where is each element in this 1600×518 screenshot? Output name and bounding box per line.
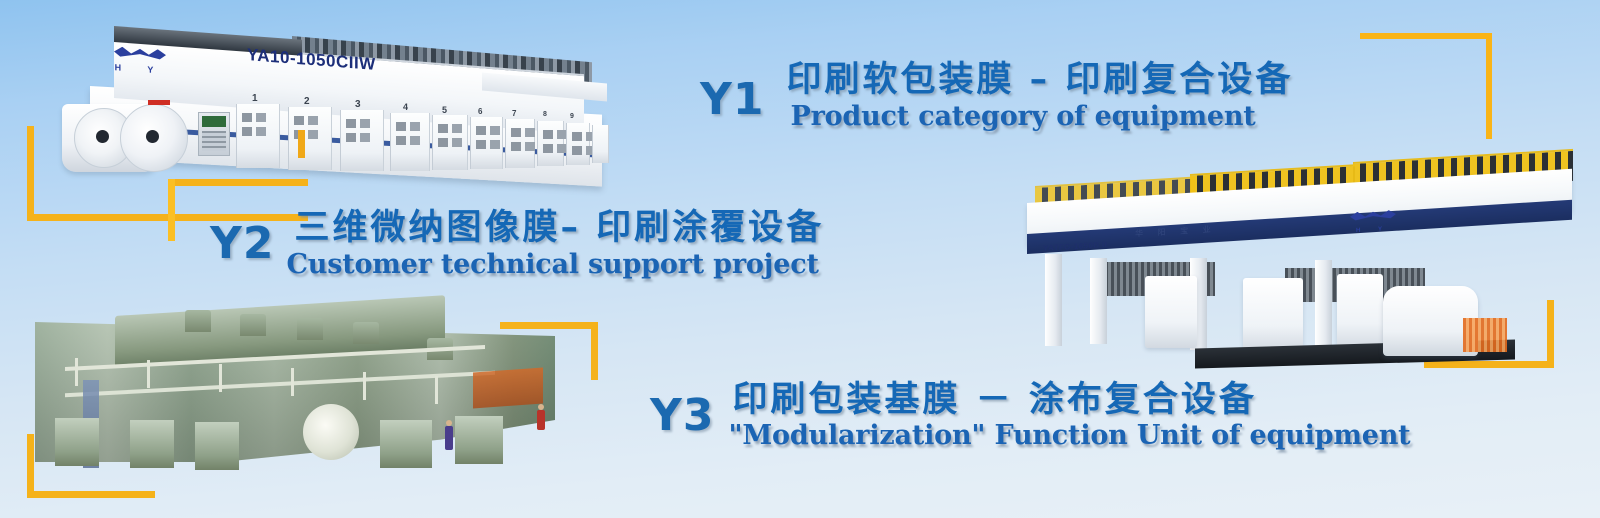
print-unit-number: 1 — [252, 93, 258, 104]
text-block-y2: Y2 三维微纳图像膜– 印刷涂覆设备 Customer technical su… — [210, 210, 824, 279]
hy-brand-logo: H Y — [1350, 210, 1396, 233]
process-station — [195, 422, 239, 470]
press-yellow-marker — [298, 130, 305, 158]
blower-unit — [185, 310, 211, 332]
hose-coil — [1463, 318, 1507, 352]
print-unit-number: 2 — [304, 96, 310, 107]
print-unit — [537, 121, 564, 166]
print-unit — [566, 123, 590, 165]
rail-post — [147, 360, 150, 388]
text-block-y1: Y1 印刷软包装膜 – 印刷复合设备 Product category of e… — [700, 62, 1293, 131]
process-station — [455, 416, 503, 464]
rail-post — [363, 372, 366, 400]
logo-wing-icon — [1350, 210, 1396, 224]
line-end-section — [473, 368, 543, 409]
process-module — [1243, 278, 1303, 352]
press-control-panel — [198, 112, 230, 156]
item-title-zh-y3: 印刷包装基膜 － 涂布复合设备 — [732, 382, 1410, 420]
print-unit-number: 5 — [442, 105, 447, 115]
item-code-y1: Y1 — [700, 78, 764, 122]
blower-unit — [297, 318, 323, 340]
machine-leg — [1090, 258, 1107, 344]
process-station — [380, 420, 432, 468]
press-red-marker — [148, 100, 170, 105]
print-unit — [592, 125, 609, 163]
machine-leg — [1045, 254, 1062, 346]
item-title-zh-y2: 三维微纳图像膜– 印刷涂覆设备 — [294, 210, 824, 248]
print-unit — [432, 115, 468, 170]
rail-post — [75, 358, 78, 386]
rail-post — [291, 368, 294, 396]
item-title-zh-y1: 印刷软包装膜 – 印刷复合设备 — [786, 62, 1293, 100]
machine-photo-paper-coating-line — [35, 308, 570, 483]
print-unit — [236, 104, 280, 168]
print-unit-number: 6 — [478, 107, 482, 116]
print-unit — [470, 117, 503, 169]
print-unit — [390, 113, 430, 171]
rail-post — [435, 376, 438, 404]
bracket-middle-left-horizontal — [168, 179, 308, 186]
machine-leg — [1315, 260, 1332, 352]
print-unit-number: 9 — [570, 113, 574, 120]
logo-wing-icon — [114, 46, 166, 64]
process-module — [1337, 274, 1383, 350]
bracket-top-right — [1360, 33, 1492, 139]
item-subtitle-en-y3: "Modularization" Function Unit of equipm… — [728, 422, 1410, 450]
machine-photo-coating-laminator: H Y 华 阳 宝 业 YATFG-1650B II — [985, 158, 1585, 373]
print-unit-number: 3 — [355, 99, 361, 110]
process-module — [1145, 276, 1197, 348]
promotional-banner: 1 2 3 4 5 6 7 8 9 H Y YA10-1050CIIW — [0, 0, 1600, 518]
process-station — [130, 420, 174, 468]
bracket-middle-left-vertical — [168, 179, 175, 241]
print-unit-number: 7 — [512, 109, 516, 118]
blower-unit — [353, 322, 379, 344]
item-code-y3: Y3 — [650, 394, 714, 438]
roll-hub — [146, 130, 159, 143]
operator-figure — [537, 410, 545, 430]
blower-unit — [240, 314, 266, 336]
item-code-y2: Y2 — [210, 222, 274, 266]
process-station — [55, 418, 99, 466]
rail-post — [219, 364, 222, 392]
print-unit — [340, 110, 384, 171]
paper-roll — [303, 404, 359, 460]
print-unit-number: 8 — [543, 111, 547, 118]
print-unit-number: 4 — [403, 102, 408, 112]
hy-brand-logo: H Y — [114, 46, 166, 74]
item-subtitle-en-y2: Customer technical support project — [286, 251, 824, 279]
operator-figure — [445, 426, 453, 450]
text-block-y3: Y3 印刷包装基膜 － 涂布复合设备 "Modularization" Func… — [650, 382, 1410, 450]
logo-letters: H Y — [1350, 226, 1396, 235]
roll-hub — [96, 130, 109, 143]
item-subtitle-en-y1: Product category of equipment — [790, 103, 1293, 131]
print-unit — [505, 119, 535, 168]
print-unit — [288, 107, 332, 170]
machine-photo-gravure-press: 1 2 3 4 5 6 7 8 9 H Y YA10-1050CIIW — [62, 8, 607, 173]
